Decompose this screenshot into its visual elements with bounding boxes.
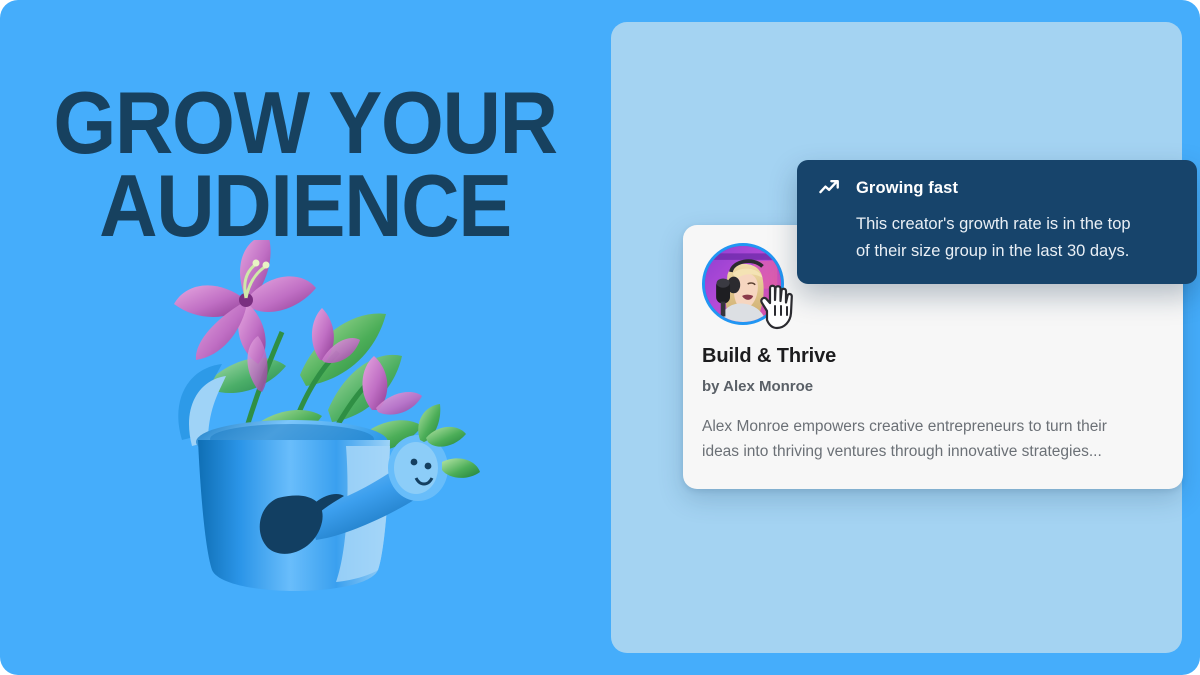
watering-can-illustration bbox=[150, 240, 530, 620]
tooltip-title: Growing fast bbox=[856, 179, 958, 198]
page-title: Grow your Audience bbox=[24, 82, 585, 247]
tooltip-body: This creator's growth rate is in the top… bbox=[856, 211, 1175, 264]
card-description: Alex Monroe empowers creative entreprene… bbox=[702, 414, 1183, 464]
avatar[interactable] bbox=[702, 243, 784, 325]
growing-fast-tooltip: Growing fast This creator's growth rate … bbox=[797, 160, 1197, 284]
card-byline: by Alex Monroe bbox=[702, 378, 813, 395]
tooltip-header: Growing fast bbox=[819, 178, 1175, 198]
promo-canvas: Grow your Audience bbox=[0, 0, 1200, 675]
watering-can bbox=[178, 364, 480, 591]
headline-line-2: Audience bbox=[24, 165, 585, 248]
card-title: Build & Thrive bbox=[702, 345, 836, 368]
trending-up-icon bbox=[819, 178, 841, 198]
avatar-photo bbox=[705, 246, 781, 322]
